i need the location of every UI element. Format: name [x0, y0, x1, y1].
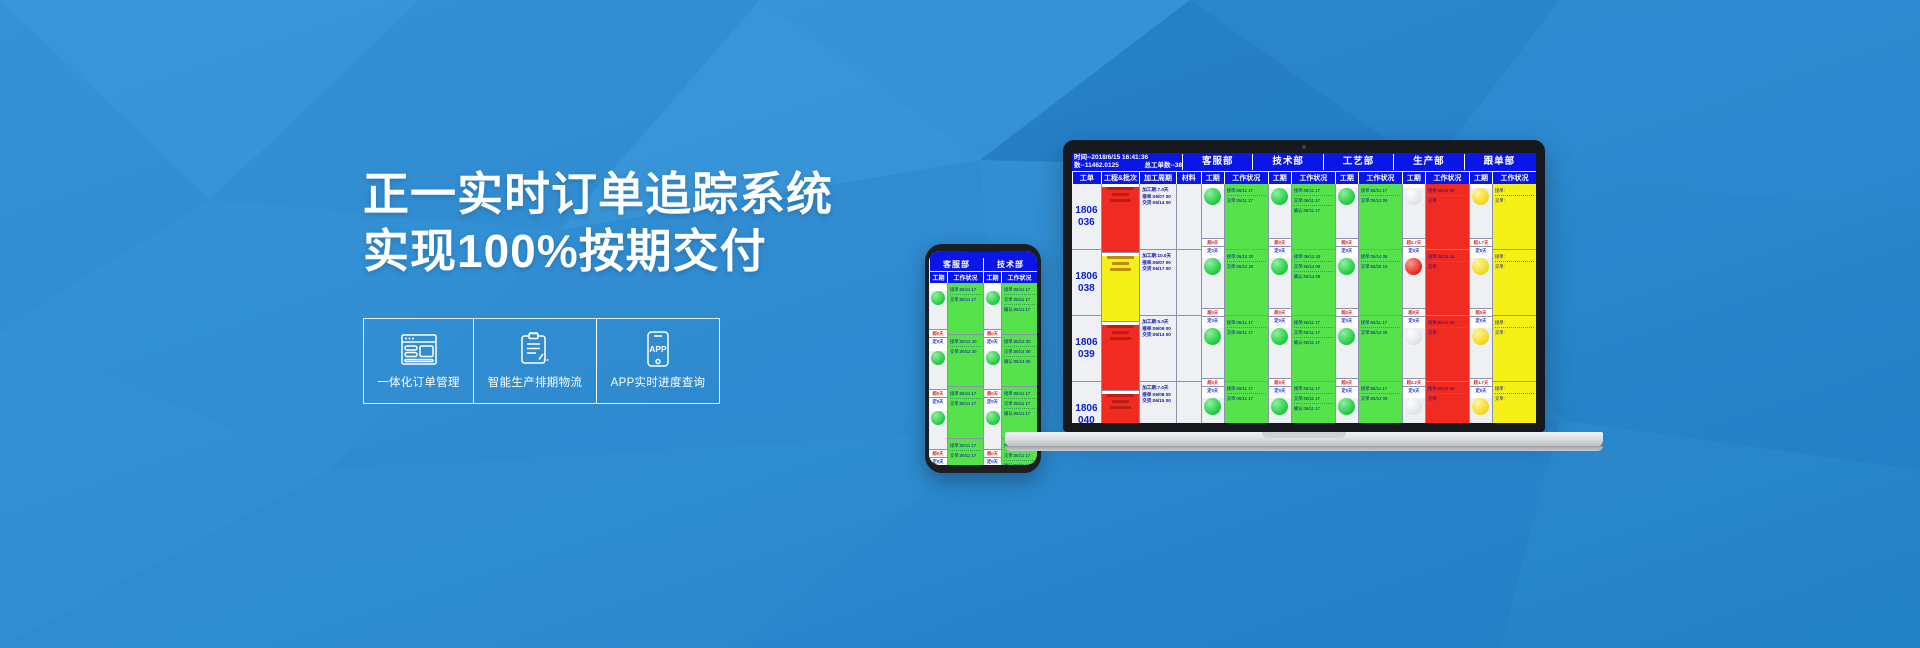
- status-line: 接单:06/12 09: [1428, 385, 1467, 394]
- status-line: 接单:06/11 17: [1294, 319, 1333, 328]
- meta-total: 总工单数--38: [1144, 162, 1182, 170]
- status-line: 确认:06/11 17: [1294, 405, 1333, 412]
- status-badge: 超0天: [1202, 238, 1224, 246]
- status-line: 交单:06/11 17: [1004, 296, 1035, 305]
- status-line: 确认:06/11 17: [1004, 306, 1035, 313]
- status-line: 接单:06/12 20: [1294, 253, 1333, 262]
- table-row[interactable]: [1177, 316, 1201, 382]
- column-工艺部-status: 接单:06/11 17交单:06/12 09接单:06/14 08交单:06/1…: [1358, 184, 1402, 423]
- status-line: 交单:06/14 08: [1004, 348, 1035, 357]
- table-row[interactable]: [1177, 250, 1201, 316]
- col-header-period: 工期: [1469, 171, 1492, 184]
- table-row[interactable]: [1102, 325, 1139, 391]
- table-cell-status[interactable]: 接单:06/11 17交单:06/12 09: [1359, 316, 1402, 382]
- status-badge: 超0天: [1336, 308, 1358, 316]
- table-cell-light[interactable]: 超1.7天定0天: [1470, 328, 1492, 394]
- status-line: 接单:06/12 20: [950, 338, 981, 347]
- status-line: 接单:06/11 17: [1294, 385, 1333, 394]
- status-line: 确认:06/11 17: [1004, 410, 1035, 417]
- headline-line-2: 实现100%按期交付: [363, 223, 923, 280]
- table-cell-status[interactable]: 接单:06/11 17交单:06/12 09: [1359, 184, 1402, 250]
- status-badge: 超0天: [1336, 238, 1358, 246]
- col-header-status: 工作状况: [1358, 171, 1402, 184]
- table-row[interactable]: 1806038: [1072, 250, 1101, 316]
- column-project-batch: [1101, 184, 1139, 423]
- status-badge: 定0天: [1403, 246, 1425, 254]
- feature-card-order-management[interactable]: 一体化订单管理: [363, 318, 474, 404]
- table-cell-light[interactable]: 超2.7天定0天: [1403, 188, 1425, 254]
- status-badge: 超0天: [984, 389, 1001, 397]
- status-badge: 超0天: [1202, 378, 1224, 386]
- dept-header-工艺部: 工艺部: [1323, 154, 1393, 170]
- status-line: 交单:06/11 17: [950, 400, 981, 407]
- table-cell-status[interactable]: 接单:交单:: [1493, 316, 1536, 382]
- table-cell-status[interactable]: 接单:06/12 09交单:: [1426, 316, 1469, 382]
- status-badge: 超1.7天: [1470, 378, 1492, 386]
- laptop-mockup: 时间--2018/6/15 16:41:36数--11462.0125总工单数-…: [1063, 140, 1563, 470]
- cycle-line: 交货:06/17 00: [1142, 266, 1174, 273]
- clipboard-schedule-icon: [520, 330, 550, 368]
- table-row[interactable]: 加工期:7.0天接单:06/07 00交货:06/14 00: [1140, 184, 1176, 250]
- phone-dashboard-header: 客服部技术部工期工作状况工期工作状况: [929, 251, 1037, 283]
- status-light-green: [986, 411, 1000, 425]
- table-row[interactable]: [1102, 394, 1139, 423]
- table-cell-status[interactable]: 接单:06/11 17交单:06/11 17: [948, 283, 983, 335]
- column-processing-cycle: 加工期:7.0天接单:06/07 00交货:06/14 00加工期:10.0天接…: [1139, 184, 1176, 423]
- table-cell-status[interactable]: 接单:06/11 17交单:06/11 17确认:06/11 17: [1292, 316, 1335, 382]
- table-row[interactable]: 加工期:7.0天接单:06/08 00交货:06/15 00: [1140, 382, 1176, 423]
- status-line: 接单:: [1495, 253, 1534, 262]
- headline-line-1: 正一实时订单追踪系统: [363, 166, 923, 223]
- col-header-period: 工期: [1268, 171, 1291, 184]
- status-badge: 定0天: [1202, 246, 1224, 254]
- table-cell-light[interactable]: 超0.7天定1天: [1470, 398, 1492, 423]
- column-生产部-period: 超2.7天定0天超0天定0天超2.2天定0天超1.7天定1天: [1402, 184, 1425, 423]
- status-badge: 定0天: [1336, 386, 1358, 394]
- status-line: 交单:06/11 17: [1227, 329, 1266, 336]
- col-header-status: 工作状况: [947, 271, 983, 283]
- table-cell-light[interactable]: 超0天定0天: [1269, 258, 1291, 324]
- table-cell-light[interactable]: 超0天定0天: [1336, 258, 1358, 324]
- feature-label: 一体化订单管理: [377, 374, 460, 390]
- status-badge: 定0天: [1470, 386, 1492, 394]
- status-line: 接单:06/11 17: [1227, 319, 1266, 328]
- svg-text:APP: APP: [649, 344, 667, 354]
- status-line: 交单:: [1495, 329, 1534, 336]
- status-light-green: [1271, 398, 1288, 415]
- webcam-icon: [1302, 145, 1306, 149]
- status-light-green: [931, 411, 945, 425]
- status-line: 交单:06/12 09: [1361, 395, 1400, 402]
- laptop-base-edge: [1005, 446, 1603, 451]
- table-cell-status[interactable]: 接单:06/11 17交单:06/12 09: [1359, 382, 1402, 423]
- col-header-period: 工期: [1335, 171, 1358, 184]
- table-cell-light[interactable]: 超0天定0天: [984, 291, 1001, 343]
- status-badge: 超0天: [1269, 238, 1291, 246]
- table-cell-status[interactable]: 接单:06/12 09交单:: [1426, 184, 1469, 250]
- table-cell-status[interactable]: 接单:交单:: [1493, 250, 1536, 316]
- cycle-line: 交货:06/14 00: [1142, 332, 1174, 339]
- status-light-green: [1204, 258, 1221, 275]
- status-badge: 定0天: [1269, 246, 1291, 254]
- table-row[interactable]: [1102, 256, 1139, 322]
- status-light-green: [1271, 188, 1288, 205]
- status-line: 接单:06/11 17: [1227, 385, 1266, 394]
- status-line: 接单:06/11 17: [1227, 187, 1266, 196]
- col-header-工程&批次: 工程&批次: [1101, 171, 1139, 184]
- feature-card-production-schedule[interactable]: 智能生产排期物流: [473, 318, 597, 404]
- col-header-status: 工作状况: [1425, 171, 1469, 184]
- meta-time: 时间--2018/6/15 16:41:36: [1074, 154, 1182, 162]
- status-light-green: [986, 291, 1000, 305]
- mobile-app-icon: APP: [646, 330, 670, 368]
- status-line: 交单:06/11 17: [1294, 329, 1333, 338]
- table-cell-status[interactable]: 接单:06/14 08交单:06/15 16: [1359, 250, 1402, 316]
- status-line: 交单:06/11 17: [1004, 452, 1035, 461]
- order-tracking-dashboard: 时间--2018/6/15 16:41:36数--11462.0125总工单数-…: [1072, 153, 1536, 423]
- status-line: 确认:06/14 08: [1004, 358, 1035, 365]
- table-cell-light[interactable]: 超0天定0天: [929, 411, 947, 463]
- dept-header-技术部: 技术部: [983, 258, 1037, 271]
- status-light-white: [1405, 188, 1422, 205]
- status-badge: 定0天: [929, 337, 947, 345]
- dept-header-跟单部: 跟单部: [1464, 154, 1534, 170]
- status-light-yellow: [1472, 188, 1489, 205]
- status-light-green: [1338, 328, 1355, 345]
- status-light-green: [1204, 188, 1221, 205]
- table-cell-light[interactable]: 超0天定0天: [1336, 188, 1358, 254]
- col-header-period: 工期: [1201, 171, 1224, 184]
- cycle-line: 交货:06/14 00: [1142, 200, 1174, 207]
- table-cell-status[interactable]: 接单:06/12 20交单:06/14 08确认:06/14 08: [1002, 335, 1037, 387]
- cycle-line: 交货:06/15 00: [1142, 398, 1174, 405]
- status-line: 交单:06/11 17: [1227, 197, 1266, 204]
- table-row[interactable]: 1806040: [1072, 382, 1101, 423]
- status-line: 交单:: [1428, 329, 1467, 336]
- status-badge: 超0天: [1336, 378, 1358, 386]
- feature-label: 智能生产排期物流: [488, 374, 582, 390]
- status-badge: 超1.7天: [1470, 238, 1492, 246]
- status-line: 接单:06/11 17: [950, 442, 981, 451]
- table-cell-light[interactable]: 超0天定0天: [984, 411, 1001, 463]
- status-line: 接单:06/11 17: [1004, 286, 1035, 295]
- col-header-status: 工作状况: [1492, 171, 1536, 184]
- status-light-green: [931, 351, 945, 365]
- column-material: [1176, 184, 1201, 423]
- col-header-status: 工作状况: [1291, 171, 1335, 184]
- table-cell-light[interactable]: 超1.7天定1天: [1403, 398, 1425, 423]
- column-客服部-period: 超0天定0天超0天定0天超0天定0天超0天定1天: [1201, 184, 1224, 423]
- feature-card-list: 一体化订单管理 智能生产排期物流: [363, 318, 720, 404]
- column-生产部-status: 接单:06/12 09交单:接单:06/15 16交单:接单:06/12 09交…: [1425, 184, 1469, 423]
- table-row[interactable]: 1806036: [1072, 184, 1101, 250]
- status-badge: 超0天: [984, 449, 1001, 457]
- table-row[interactable]: [1177, 184, 1201, 250]
- table-cell-status[interactable]: 接单:06/11 17交单:06/11 17: [1225, 184, 1268, 250]
- status-light-green: [1338, 258, 1355, 275]
- status-line: 交单:: [1495, 263, 1534, 270]
- status-badge: 超0天: [1403, 308, 1425, 316]
- col-header-period: 工期: [983, 271, 1001, 283]
- status-line: 交单:06/11 17: [950, 452, 981, 459]
- status-light-green: [1271, 258, 1288, 275]
- table-cell-status[interactable]: 接单:06/12 20交单:06/12 20: [948, 335, 983, 387]
- status-light-green: [931, 291, 945, 305]
- table-cell-status[interactable]: 接单:06/12 09交单:: [1426, 382, 1469, 423]
- status-line: 接单:06/14 08: [1361, 253, 1400, 262]
- status-badge: 定0天: [929, 457, 947, 465]
- status-line: 交单:06/12 09: [1361, 329, 1400, 336]
- dashboard-header: 时间--2018/6/15 16:41:36数--11462.0125总工单数-…: [1072, 153, 1536, 184]
- table-cell-light[interactable]: 超0天定0天: [929, 351, 947, 403]
- table-cell-light[interactable]: 超0天定3天: [1336, 398, 1358, 423]
- table-cell-light[interactable]: 超0天定0天: [1336, 328, 1358, 394]
- table-cell-light[interactable]: 超0天定1天: [1202, 398, 1224, 423]
- status-line: 确认:06/11 17: [1004, 462, 1035, 465]
- status-badge: 超0天: [1470, 308, 1492, 316]
- table-cell-light[interactable]: 超0天定0天: [1403, 258, 1425, 324]
- status-badge: 定0天: [1269, 316, 1291, 324]
- table-cell-light[interactable]: 超0天定0天: [929, 291, 947, 343]
- table-cell-light[interactable]: 超0天定0天: [1470, 258, 1492, 324]
- table-cell-status[interactable]: 接单:06/11 17交单:06/11 17确认:06/11 17: [1292, 184, 1335, 250]
- status-line: 接单:06/11 17: [950, 390, 981, 399]
- status-badge: 定0天: [1269, 386, 1291, 394]
- table-row[interactable]: 加工期:10.0天接单:06/07 00交货:06/17 00: [1140, 250, 1176, 316]
- table-cell-status[interactable]: 接单:06/12 20交单:06/14 08确认:06/14 08: [1292, 250, 1335, 316]
- status-light-green: [1204, 398, 1221, 415]
- status-line: 确认:06/11 17: [1294, 207, 1333, 214]
- column-work-order: 1806036180603818060391806040: [1072, 184, 1101, 423]
- status-line: 接单:06/12 09: [1428, 319, 1467, 328]
- status-badge: 超2.7天: [1403, 238, 1425, 246]
- status-line: 接单:06/11 17: [1004, 390, 1035, 399]
- dept-header-客服部: 客服部: [929, 258, 983, 271]
- table-cell-status[interactable]: 接单:交单:: [1493, 382, 1536, 423]
- col-header-status: 工作状况: [1001, 271, 1037, 283]
- table-cell-status[interactable]: 接单:06/11 17交单:06/11 17确认:06/11 17: [1002, 283, 1037, 335]
- status-badge: 定0天: [1336, 246, 1358, 254]
- phone-subheader: 工期工作状况工期工作状况: [929, 271, 1037, 283]
- dept-header-客服部: 客服部: [1182, 154, 1252, 170]
- status-badge: 定0天: [984, 337, 1001, 345]
- hero-banner: 正一实时订单追踪系统 实现100%按期交付 一体化订单管理: [0, 0, 1920, 648]
- column-技术部-period: 超0天定0天超0天定0天超0天定0天超0天定4天: [983, 283, 1001, 465]
- dept-header-生产部: 生产部: [1393, 154, 1463, 170]
- status-line: 接单:06/11 17: [1361, 187, 1400, 196]
- hero-headline: 正一实时订单追踪系统 实现100%按期交付: [363, 166, 923, 280]
- table-cell-light[interactable]: 超0天定0天: [1202, 188, 1224, 254]
- status-line: 接单:06/12 20: [1227, 253, 1266, 262]
- laptop-screen[interactable]: 时间--2018/6/15 16:41:36数--11462.0125总工单数-…: [1072, 153, 1536, 423]
- status-line: 接单:06/11 17: [1361, 385, 1400, 394]
- dashboard-grid: 1806036180603818060391806040加工期:7.0天接单:0…: [1072, 184, 1536, 423]
- status-line: 交单:: [1495, 395, 1534, 402]
- table-cell-status[interactable]: 接单:06/11 17交单:06/11 17: [948, 439, 983, 465]
- table-cell-light[interactable]: 超0天定4天: [1269, 398, 1291, 423]
- status-badge: 超0天: [984, 329, 1001, 337]
- column-跟单部-period: 超1.7天定0天超0天定0天超1.7天定0天超0.7天定1天: [1469, 184, 1492, 423]
- status-badge: 超0天: [1269, 308, 1291, 316]
- status-badge: 定0天: [1202, 386, 1224, 394]
- table-row[interactable]: [1102, 187, 1139, 253]
- table-cell-status[interactable]: 接单:06/11 17交单:06/11 17: [948, 387, 983, 439]
- status-line: 确认:06/14 08: [1294, 273, 1333, 280]
- column-跟单部-status: 接单:交单:接单:交单:接单:交单:接单:交单:: [1492, 184, 1536, 423]
- status-line: 交单:: [1428, 197, 1467, 204]
- status-light-yellow: [1472, 258, 1489, 275]
- status-light-red: [1405, 258, 1422, 275]
- col-header-status: 工作状况: [1224, 171, 1268, 184]
- status-line: 交单:06/11 17: [1294, 395, 1333, 404]
- column-客服部-period: 超0天定0天超0天定0天超0天定0天超0天定1天: [929, 283, 947, 465]
- status-line: 接单:: [1495, 385, 1534, 394]
- status-badge: 超0天: [1202, 308, 1224, 316]
- status-line: 接单:06/11 17: [1361, 319, 1400, 328]
- col-header-period: 工期: [929, 271, 947, 283]
- table-cell-status[interactable]: 接单:06/15 16交单:: [1426, 250, 1469, 316]
- status-light-yellow: [1472, 328, 1489, 345]
- col-header-工单: 工单: [1072, 171, 1101, 184]
- column-技术部-period: 超0天定0天超0天定0天超0天定0天超0天定4天: [1268, 184, 1291, 423]
- dept-header-技术部: 技术部: [1252, 154, 1322, 170]
- phone-notch: [962, 244, 1004, 252]
- status-badge: 超0天: [929, 449, 947, 457]
- status-badge: 定0天: [1336, 316, 1358, 324]
- table-cell-status[interactable]: 接单:06/11 17交单:06/11 17确认:06/11 17: [1292, 382, 1335, 423]
- status-light-green: [1271, 328, 1288, 345]
- status-line: 接单:: [1495, 319, 1534, 328]
- status-light-white: [1405, 398, 1422, 415]
- status-light-green: [1204, 328, 1221, 345]
- col-header-材料: 材料: [1176, 171, 1201, 184]
- column-技术部-status: 接单:06/11 17交单:06/11 17确认:06/11 17接单:06/1…: [1291, 184, 1335, 423]
- status-badge: 定0天: [929, 397, 947, 405]
- meta-number: 数--11462.0125: [1074, 162, 1119, 170]
- table-cell-light[interactable]: 超0天定0天: [1202, 328, 1224, 394]
- table-cell-light[interactable]: 超0天定0天: [984, 351, 1001, 403]
- laptop-base: [1005, 432, 1603, 447]
- feature-label: APP实时进度查询: [611, 374, 706, 390]
- table-cell-light[interactable]: 超0天定0天: [1269, 328, 1291, 394]
- status-line: 交单:: [1495, 197, 1534, 204]
- table-row[interactable]: 加工期:5.0天接单:06/09 00交货:06/14 00: [1140, 316, 1176, 382]
- status-line: 交单:06/14 08: [1294, 263, 1333, 272]
- status-light-green: [986, 351, 1000, 365]
- cycle-line: 加工期:10.0天: [1142, 253, 1174, 260]
- column-客服部-status: 接单:06/11 17交单:06/11 17接单:06/12 20交单:06/1…: [947, 283, 983, 465]
- status-line: 交单:06/11 17: [1004, 400, 1035, 409]
- status-badge: 定0天: [1202, 316, 1224, 324]
- col-header-period: 工期: [1402, 171, 1425, 184]
- status-line: 交单:06/12 09: [1361, 197, 1400, 204]
- dashboard-meta: 时间--2018/6/15 16:41:36数--11462.0125总工单数-…: [1074, 154, 1182, 170]
- laptop-lid: 时间--2018/6/15 16:41:36数--11462.0125总工单数-…: [1063, 140, 1545, 432]
- status-badge: 定0天: [1403, 386, 1425, 394]
- status-line: 接单:06/15 16: [1428, 253, 1467, 262]
- status-badge: 定0天: [984, 397, 1001, 405]
- status-line: 接单:: [1495, 187, 1534, 196]
- status-line: 交单:06/15 16: [1361, 263, 1400, 270]
- status-badge: 定0天: [1470, 246, 1492, 254]
- status-line: 交单:06/11 17: [950, 296, 981, 303]
- status-badge: 超0天: [929, 329, 947, 337]
- column-工艺部-period: 超0天定0天超0天定0天超0天定0天超0天定3天: [1335, 184, 1358, 423]
- dashboard-window-icon: [401, 330, 437, 368]
- status-line: 接单:06/11 17: [950, 286, 981, 295]
- column-客服部-status: 接单:06/11 17交单:06/11 17接单:06/12 20交单:06/1…: [1224, 184, 1268, 423]
- table-cell-light[interactable]: 超2.2天定0天: [1403, 328, 1425, 394]
- status-light-white: [1405, 328, 1422, 345]
- table-cell-light[interactable]: 超0天定0天: [1202, 258, 1224, 324]
- table-cell-light[interactable]: 超0天定0天: [1269, 188, 1291, 254]
- table-cell-status[interactable]: 接单:06/12 20交单:06/12 20: [1225, 250, 1268, 316]
- dashboard-subheader: 工单工程&批次加工周期材料工期工作状况工期工作状况工期工作状况工期工作状况工期工…: [1072, 171, 1536, 184]
- status-line: 交单:06/12 20: [950, 348, 981, 355]
- status-line: 交单:06/11 17: [1294, 197, 1333, 206]
- table-row[interactable]: [1177, 382, 1201, 423]
- status-badge: 定0天: [984, 457, 1001, 465]
- status-line: 交单:06/11 17: [1227, 395, 1266, 402]
- table-row[interactable]: 1806039: [1072, 316, 1101, 382]
- status-light-green: [1338, 398, 1355, 415]
- table-cell-status[interactable]: 接单:交单:: [1493, 184, 1536, 250]
- status-line: 接单:06/12 20: [1004, 338, 1035, 347]
- status-badge: 定0天: [1470, 316, 1492, 324]
- col-header-加工周期: 加工周期: [1139, 171, 1175, 184]
- feature-card-app-progress[interactable]: APP APP实时进度查询: [596, 318, 720, 404]
- status-line: 交单:: [1428, 395, 1467, 402]
- status-line: 接单:06/11 17: [1294, 187, 1333, 196]
- status-badge: 超0天: [929, 389, 947, 397]
- table-cell-status[interactable]: 接单:06/11 17交单:06/11 17: [1225, 382, 1268, 423]
- status-light-yellow: [1472, 398, 1489, 415]
- status-badge: 定0天: [1403, 316, 1425, 324]
- status-line: 确认:06/11 17: [1294, 339, 1333, 346]
- status-line: 交单:: [1428, 263, 1467, 270]
- status-light-green: [1338, 188, 1355, 205]
- status-line: 接单:06/12 09: [1428, 187, 1467, 196]
- status-badge: 超0天: [1269, 378, 1291, 386]
- table-cell-status[interactable]: 接单:06/11 17交单:06/11 17: [1225, 316, 1268, 382]
- status-badge: 超2.2天: [1403, 378, 1425, 386]
- table-cell-light[interactable]: 超1.7天定0天: [1470, 188, 1492, 254]
- status-line: 交单:06/12 20: [1227, 263, 1266, 270]
